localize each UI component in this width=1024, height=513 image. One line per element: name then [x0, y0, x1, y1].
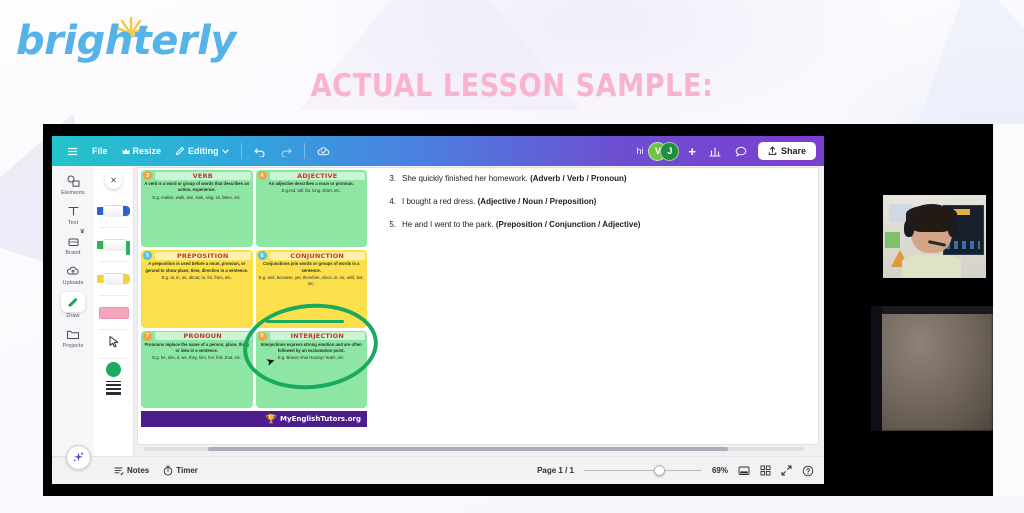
- zoom-track: [584, 470, 702, 472]
- annotation-underline: [266, 320, 344, 323]
- editing-mode-button[interactable]: Editing: [168, 143, 236, 159]
- notes-icon: [114, 466, 124, 476]
- draw-pen-icon: [61, 292, 85, 312]
- page-right-margin: [994, 124, 1024, 496]
- scrollbar-thumb[interactable]: [208, 447, 728, 451]
- timer-icon: [163, 465, 173, 476]
- parts-of-speech-cards: 3 VERB A verb is a word or group of word…: [140, 169, 368, 409]
- close-icon[interactable]: ✕: [105, 172, 122, 189]
- tile-left-edge: [871, 306, 882, 431]
- exercise-number: 3.: [386, 174, 396, 184]
- card-interjection[interactable]: 8 INTERJECTION Interjections express str…: [256, 331, 368, 408]
- draw-tool-highlighter[interactable]: [94, 263, 133, 294]
- page-title: ACTUAL LESSON SAMPLE:: [61, 68, 962, 104]
- cursor-tool-button[interactable]: [94, 331, 133, 357]
- canvas-area[interactable]: 3 VERB A verb is a word or group of word…: [134, 166, 824, 456]
- upload-cloud-icon: [63, 262, 83, 279]
- card-title-bar: ADJECTIVE: [270, 172, 366, 180]
- card-title: ADJECTIVE: [270, 172, 366, 180]
- sidebar-item-text[interactable]: Text: [53, 199, 93, 228]
- tool-separator-3: [99, 295, 128, 296]
- grid-view-icon[interactable]: [760, 465, 771, 476]
- card-title-bar: INTERJECTION: [270, 332, 366, 340]
- exercise-sentence: She quickly finished her homework.: [402, 174, 528, 183]
- folder-icon: [63, 325, 83, 342]
- sidebar-item-draw[interactable]: Draw: [53, 289, 93, 321]
- video-feed-blurred: [871, 306, 993, 431]
- banner-text: MyEnglishTutors.org: [280, 415, 361, 423]
- sidebar-rail: Elements Text: [52, 166, 94, 456]
- exercise-number: 5.: [386, 220, 396, 230]
- person-torso: [902, 255, 961, 278]
- sidebar-label-projects: Projects: [63, 343, 84, 349]
- app-bottom-bar: Notes Timer Page 1 / 1: [52, 456, 824, 484]
- card-header: 3 VERB: [143, 171, 251, 180]
- app-toolbar: File Resize Editing: [52, 136, 824, 166]
- brand-kit-icon: ♛: [63, 232, 83, 249]
- exercise-options: (Adverb / Verb / Pronoun): [530, 174, 626, 183]
- card-number: 3: [143, 171, 152, 180]
- card-number: 4: [258, 171, 267, 180]
- cloud-saved-icon: [317, 146, 330, 157]
- zoom-knob[interactable]: [654, 465, 665, 476]
- card-header: 8 INTERJECTION: [258, 332, 366, 341]
- exercise-text: She quickly finished her homework. (Adve…: [402, 174, 627, 184]
- chevron-down-icon: [222, 149, 229, 154]
- exercise-sentence: He and I went to the park.: [402, 220, 494, 229]
- card-adjective[interactable]: 4 ADJECTIVE An adjective describes a nou…: [256, 170, 368, 247]
- hamburger-menu-button[interactable]: [60, 143, 85, 160]
- redo-arrow-icon: [280, 146, 292, 157]
- marker-body: [103, 239, 129, 251]
- video-tile-column: [829, 124, 993, 496]
- card-example: E.g.red, tall, fat, long, short, etc.: [258, 188, 366, 194]
- card-conjunction[interactable]: 6 CONJUNCTION Conjunctions join words or…: [256, 250, 368, 327]
- toolbar-divider-2: [304, 143, 305, 159]
- tool-separator: [99, 227, 128, 228]
- magic-sparkle-icon[interactable]: [66, 445, 91, 470]
- undo-arrow-icon: [254, 146, 266, 157]
- card-definition: An adjective describes a noun or pronoun…: [258, 181, 366, 187]
- card-header: 4 ADJECTIVE: [258, 171, 366, 180]
- card-example: E.g. he, she, it, we, they, him, her, th…: [143, 355, 251, 361]
- shapes-icon: [63, 172, 83, 189]
- avatar[interactable]: J: [660, 142, 679, 161]
- tool-separator-5: [99, 358, 128, 359]
- card-title-bar: PRONOUN: [155, 332, 251, 340]
- draw-tool-panel: ✕: [94, 166, 134, 456]
- sidebar-label-elements: Elements: [61, 190, 85, 196]
- resize-button[interactable]: Resize: [115, 143, 169, 159]
- card-title: INTERJECTION: [270, 332, 366, 340]
- comment-button[interactable]: [728, 143, 754, 160]
- card-title-bar: VERB: [155, 172, 251, 180]
- headset-earcup-left: [904, 220, 914, 237]
- card-title: PREPOSITION: [155, 252, 251, 260]
- collaborator-avatars[interactable]: V J: [648, 142, 679, 161]
- help-question-icon[interactable]: [802, 465, 814, 477]
- add-people-button[interactable]: +: [682, 144, 702, 159]
- draw-tool-marker[interactable]: [94, 229, 133, 260]
- pen-cap: [123, 206, 130, 216]
- exercise-options: (Preposition / Conjunction / Adjective): [496, 220, 641, 229]
- card-header: 6 CONJUNCTION: [258, 251, 366, 260]
- notes-label: Notes: [127, 466, 149, 475]
- share-button[interactable]: Share: [758, 142, 816, 160]
- exercise-text: I bought a red dress. (Adjective / Noun …: [402, 197, 596, 207]
- slide-footer-banner: 🏆 MyEnglishTutors.org: [141, 411, 367, 427]
- sidebar-item-elements[interactable]: Elements: [53, 169, 93, 198]
- shared-screen: File Resize Editing: [52, 136, 824, 484]
- card-title-bar: CONJUNCTION: [270, 252, 366, 260]
- card-example: E.g. and, because, yet, therefore, since…: [258, 275, 366, 288]
- toolbar-divider: [241, 143, 242, 159]
- draw-tool-eraser[interactable]: [94, 297, 133, 328]
- list-item: 3. She quickly finished her homework. (A…: [386, 174, 806, 184]
- pencil-icon: [175, 146, 185, 156]
- card-definition: Pronouns replace the name of a person, p…: [143, 342, 251, 355]
- comment-bubble-icon: [735, 146, 747, 157]
- bottom-right-group: Page 1 / 1 69%: [537, 465, 814, 477]
- graduation-trophy-icon: 🏆: [266, 414, 277, 425]
- crown-icon: [122, 148, 130, 155]
- list-item: 5. He and I went to the park. (Prepositi…: [386, 220, 806, 230]
- timer-button[interactable]: Timer: [163, 465, 198, 476]
- monitor-content: [946, 241, 980, 249]
- redo-button[interactable]: [273, 143, 299, 160]
- card-definition: Conjunctions join words or groups of wor…: [258, 261, 366, 274]
- card-title: VERB: [155, 172, 251, 180]
- exercise-sentence: I bought a red dress.: [402, 197, 475, 206]
- highlighter-cap: [123, 274, 130, 284]
- meeting-window: File Resize Editing: [43, 124, 993, 496]
- exercise-number: 4.: [386, 197, 396, 207]
- sidebar-item-brand[interactable]: ♛ Brand: [53, 229, 93, 258]
- bar-chart-icon: [709, 146, 721, 157]
- exercise-options: (Adjective / Noun / Preposition): [478, 197, 597, 206]
- exercise-text: He and I went to the park. (Preposition …: [402, 220, 640, 230]
- card-number: 5: [143, 251, 152, 260]
- stroke-thickness-icon[interactable]: [106, 381, 121, 395]
- notes-button[interactable]: Notes: [114, 466, 149, 476]
- zoom-level-label: 69%: [712, 466, 728, 475]
- video-feed: [871, 190, 993, 278]
- video-tile-teacher[interactable]: [871, 190, 993, 278]
- sidebar-label-uploads: Uploads: [63, 280, 84, 286]
- tool-separator-2: [99, 261, 128, 262]
- hamburger-menu-icon: [67, 146, 78, 157]
- card-number: 6: [258, 251, 267, 260]
- analytics-button[interactable]: [702, 143, 728, 160]
- timer-label: Timer: [176, 466, 198, 475]
- webcam-scene: [883, 195, 986, 278]
- app-body: Elements Text: [52, 166, 824, 456]
- sidebar-item-uploads[interactable]: Uploads: [53, 259, 93, 288]
- horizontal-scrollbar[interactable]: [144, 447, 804, 451]
- greeting-text: hi: [636, 146, 643, 156]
- cursor-arrow-icon: [108, 335, 120, 353]
- card-definition: Interjections express strong emotion and…: [258, 342, 366, 355]
- card-title: CONJUNCTION: [270, 252, 366, 260]
- card-number: 8: [258, 332, 267, 341]
- list-item: 4. I bought a red dress. (Adjective / No…: [386, 197, 806, 207]
- resize-label: Resize: [133, 146, 162, 156]
- presenter-view-icon[interactable]: [738, 465, 750, 476]
- fullscreen-icon[interactable]: [781, 465, 792, 476]
- video-tile-student[interactable]: [871, 306, 993, 431]
- card-number: 7: [143, 332, 152, 341]
- text-t-icon: [63, 202, 83, 219]
- sidebar-label-brand: Brand: [65, 250, 80, 256]
- tool-separator-4: [99, 329, 128, 330]
- slide-page[interactable]: 3 VERB A verb is a word or group of word…: [138, 168, 818, 444]
- brand-logo: brighterly: [10, 8, 240, 70]
- selected-color-swatch[interactable]: [106, 362, 121, 377]
- editing-label: Editing: [188, 146, 219, 156]
- card-title-bar: PREPOSITION: [155, 252, 251, 260]
- upload-icon: [768, 146, 777, 156]
- blurred-camera-view: [871, 306, 993, 431]
- brand-name: brighterly: [16, 18, 236, 64]
- file-menu-label: File: [92, 146, 108, 156]
- sidebar-label-text: Text: [68, 220, 79, 226]
- card-title: PRONOUN: [155, 332, 251, 340]
- card-header: 7 PRONOUN: [143, 332, 251, 341]
- zoom-slider[interactable]: [584, 466, 702, 476]
- draw-tool-pen[interactable]: [94, 195, 133, 226]
- card-pronoun[interactable]: 7 PRONOUN Pronouns replace the name of a…: [141, 331, 253, 408]
- bottom-left-group: Notes Timer: [114, 465, 212, 476]
- page-indicator: Page 1 / 1: [537, 466, 574, 475]
- card-example: E.g. realize, walk, see, look, sing, sit…: [143, 195, 251, 201]
- card-preposition[interactable]: 5 PREPOSITION A preposition is used befo…: [141, 250, 253, 327]
- card-header: 5 PREPOSITION: [143, 251, 251, 260]
- exercise-list: 3. She quickly finished her homework. (A…: [386, 174, 806, 243]
- card-definition: A verb is a word or group of words that …: [143, 181, 251, 194]
- undo-button[interactable]: [247, 143, 273, 160]
- cloud-save-button[interactable]: [310, 143, 337, 160]
- eraser-body: [99, 307, 129, 319]
- wall-green-card: [885, 232, 899, 249]
- sidebar-item-projects[interactable]: Projects: [53, 322, 93, 351]
- headset-earcup-right: [948, 220, 958, 237]
- tile-top-edge: [882, 306, 993, 314]
- card-definition: A preposition is used before a noun, pro…: [143, 261, 251, 274]
- card-verb[interactable]: 3 VERB A verb is a word or group of word…: [141, 170, 253, 247]
- marker-swatch: [126, 241, 130, 255]
- crown-icon: ♛: [80, 228, 85, 235]
- card-example: E.g. at, in, on, about, to, for, from, e…: [143, 275, 251, 281]
- file-menu-button[interactable]: File: [85, 143, 115, 159]
- sidebar-label-draw: Draw: [66, 313, 79, 319]
- share-label: Share: [781, 146, 806, 156]
